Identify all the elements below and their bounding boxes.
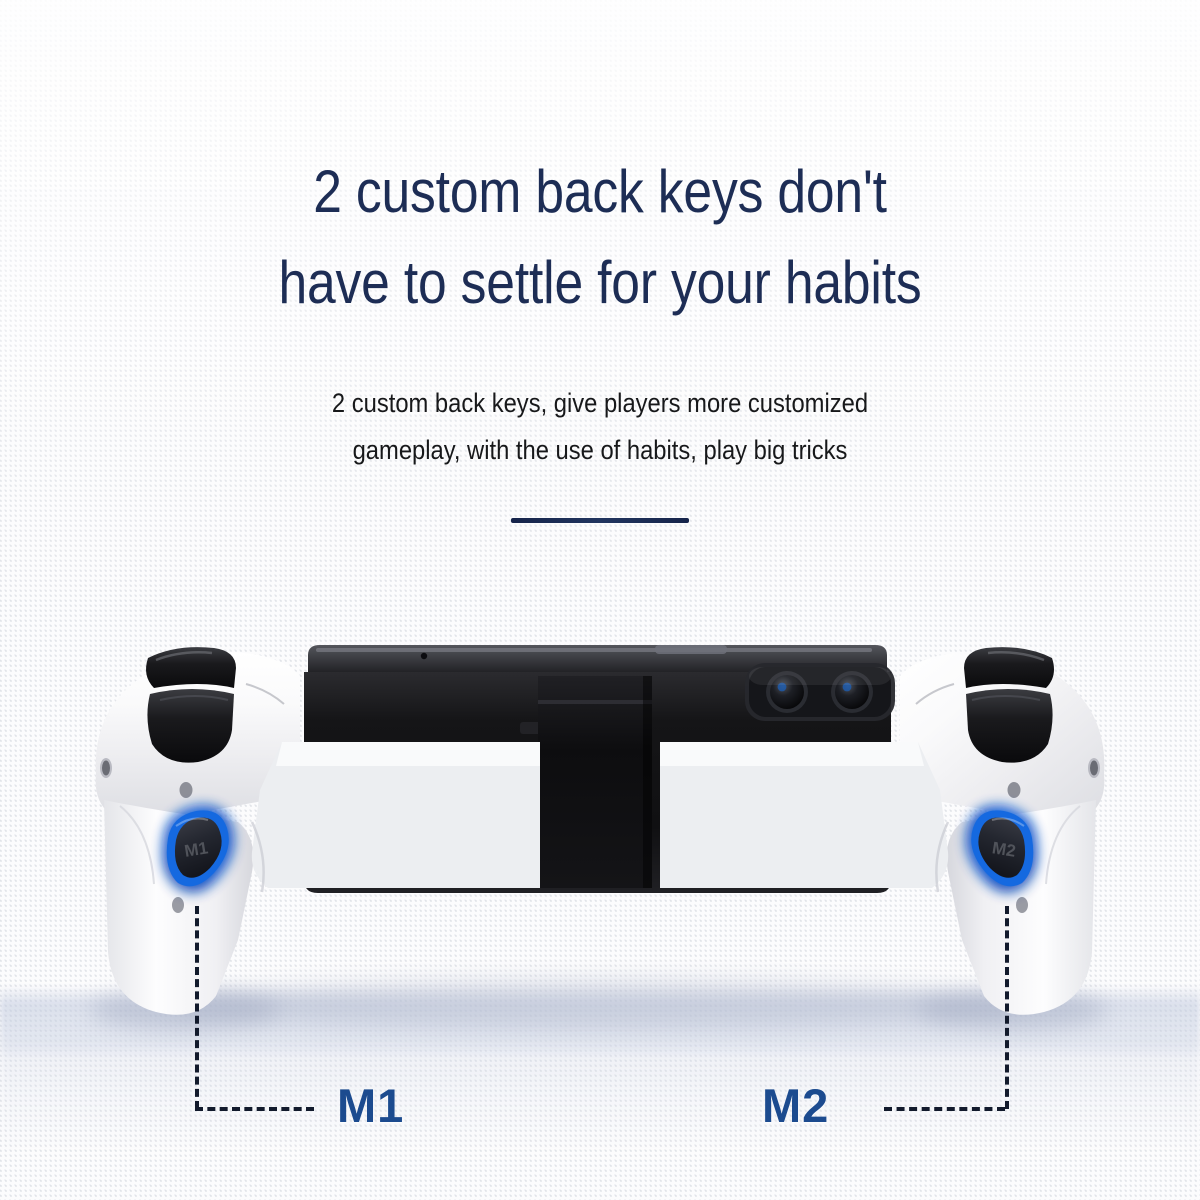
callout-leader-m1-vertical <box>195 906 199 1109</box>
subtext-block: 2 custom back keys, give players more cu… <box>0 380 1200 474</box>
phone-side-button <box>655 645 727 654</box>
vent-hole <box>1016 897 1028 913</box>
subtext-line-2: gameplay, with the use of habits, play b… <box>72 427 1128 474</box>
shoulder-trigger-right[interactable] <box>964 647 1054 763</box>
shoulder-trigger-left[interactable] <box>146 647 236 763</box>
camera-module <box>745 663 895 721</box>
section-divider <box>511 518 689 523</box>
headline-line-1: 2 custom back keys don't <box>84 146 1116 237</box>
telescopic-bridge <box>538 676 652 888</box>
device-contact-shadow <box>90 979 1107 1031</box>
page-title: 2 custom back keys don't have to settle … <box>84 146 1116 328</box>
callout-leader-m2-vertical <box>1005 906 1009 1109</box>
subtext-line-1: 2 custom back keys, give players more cu… <box>72 380 1128 427</box>
vent-hole <box>172 897 184 913</box>
callout-label-m1: M1 <box>337 1078 404 1133</box>
callout-leader-m2-horizontal <box>884 1107 1005 1111</box>
screw-hole <box>1008 782 1021 798</box>
headline-line-2: have to settle for your habits <box>84 237 1116 328</box>
back-key-m2-glyph: M2 <box>991 838 1017 860</box>
back-key-m1-glyph: M1 <box>183 838 209 860</box>
phone-microphone <box>421 653 427 659</box>
product-feature-banner: 2 custom back keys don't have to settle … <box>0 0 1200 1200</box>
subtext: 2 custom back keys, give players more cu… <box>72 380 1128 474</box>
marketing-copy-block: 2 custom back keys don't have to settle … <box>0 146 1200 474</box>
callout-leader-m1-horizontal <box>195 1107 314 1111</box>
callout-label-m2: M2 <box>762 1078 829 1133</box>
screw-hole <box>180 782 193 798</box>
